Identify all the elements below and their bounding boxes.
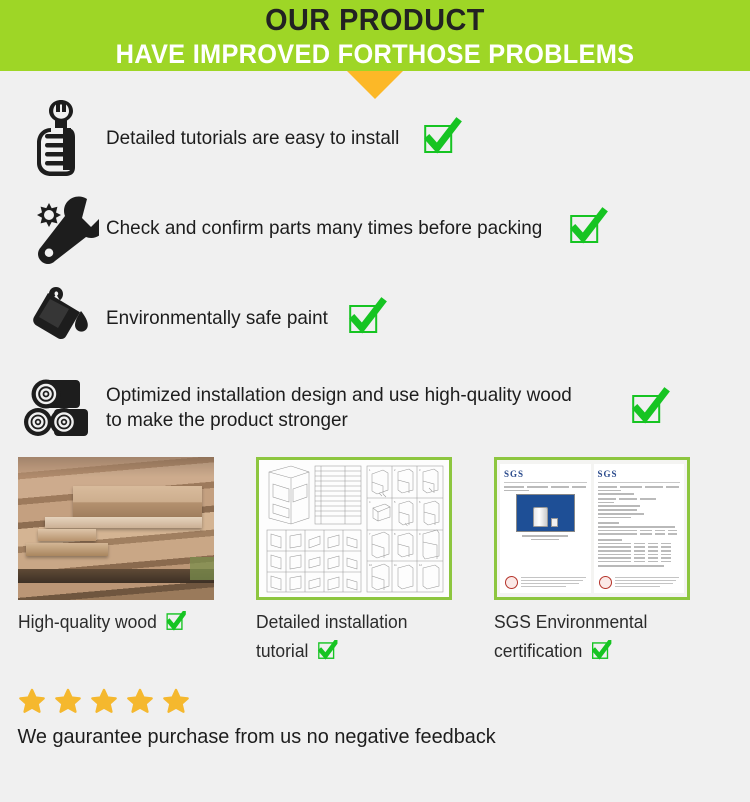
page-subtitle: HAVE IMPROVED FORTHOSE PROBLEMS [23,38,728,70]
star-filled-icon [90,687,118,720]
stacked-plywood-boards-photo [18,457,214,600]
guarantee-text: We gaurantee purchase from us no negativ… [0,722,728,752]
green-check-icon [167,611,186,640]
paint-bucket-icon [18,283,106,353]
card-caption: SGS Environmental certification [494,600,684,669]
proof-card: High-quality wood [18,457,214,669]
green-check-icon [424,121,458,155]
header-banner: OUR PRODUCT HAVE IMPROVED FORTHOSE PROBL… [0,0,750,71]
green-check-icon [570,211,604,245]
feature-label: Detailed tutorials are easy to install [106,126,399,151]
card-caption: High-quality wood [18,600,208,640]
product-infographic: OUR PRODUCT HAVE IMPROVED FORTHOSE PROBL… [0,0,750,802]
stacked-logs-icon [18,377,106,439]
proof-card: 123 456 789 101112 Detailed installation… [256,457,452,669]
feature-label: Optimized installation design and use hi… [106,383,591,433]
green-check-icon [318,640,337,669]
feature-label: Check and confirm parts many times befor… [106,216,542,241]
feature-row: Check and confirm parts many times befor… [0,183,750,273]
gear-and-wrench-icon [18,191,106,265]
star-filled-icon [54,687,82,720]
hand-holding-wrench-icon [18,98,106,178]
card-caption: Detailed installation tutorial [256,600,446,669]
proof-card-list: High-quality wood [0,453,750,669]
rating-stars [0,669,750,722]
star-filled-icon [162,687,190,720]
feature-list: Detailed tutorials are easy to install [0,71,750,453]
sgs-report-page: SGS [500,464,591,593]
feature-row: Optimized installation design and use hi… [0,363,750,453]
assembly-instruction-diagram: 123 456 789 101112 [256,457,452,600]
star-filled-icon [18,687,46,720]
sgs-logo: SGS [504,469,587,479]
feature-row: Detailed tutorials are easy to install [0,93,750,183]
sgs-report-page: SGS [594,464,685,593]
proof-card: SGS [494,457,690,669]
green-check-icon [592,640,611,669]
star-filled-icon [126,687,154,720]
feature-label: Environmentally safe paint [106,306,328,331]
green-check-icon [349,301,383,335]
card-caption-label: High-quality wood [18,612,157,632]
green-check-icon [632,391,666,425]
feature-row: Environmentally safe paint [0,273,750,363]
triangle-down-icon [347,71,403,99]
sgs-logo: SGS [598,469,681,479]
card-caption-label: SGS Environmental certification [494,612,647,661]
sgs-test-report-documents: SGS [494,457,690,600]
page-title: OUR PRODUCT [26,2,724,38]
